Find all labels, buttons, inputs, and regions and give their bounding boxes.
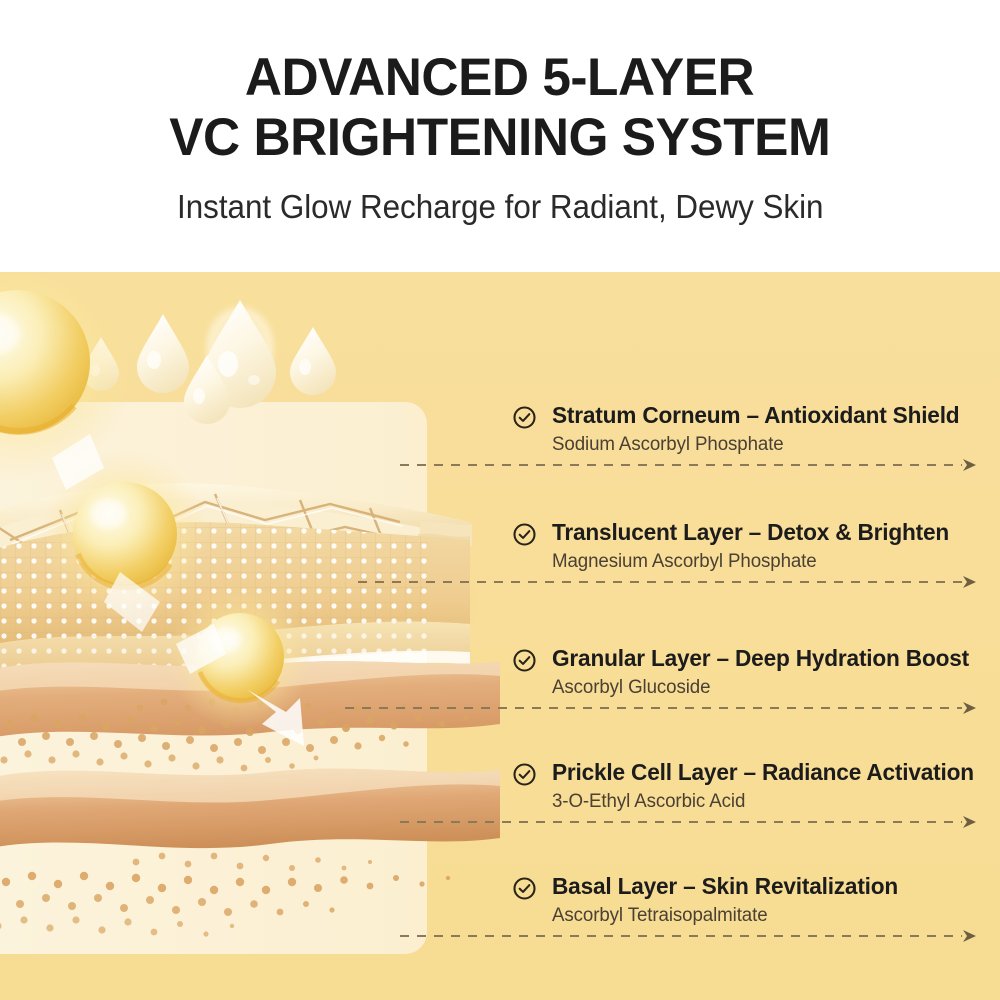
callout-leader-line: [400, 821, 962, 823]
callout-leader-line: [358, 581, 962, 583]
layer-callout-list: Stratum Corneum – Antioxidant ShieldSodi…: [0, 272, 1000, 1000]
page-title-line-1: ADVANCED 5-LAYER: [245, 48, 754, 108]
check-circle-icon: [512, 405, 537, 430]
callout-title: Stratum Corneum – Antioxidant Shield: [552, 402, 959, 429]
callout-subtitle: Ascorbyl Tetraisopalmitate: [552, 904, 898, 928]
callout-subtitle: Sodium Ascorbyl Phosphate: [552, 433, 959, 457]
leader-arrowhead-icon: [962, 574, 978, 590]
page-subtitle: Instant Glow Recharge for Radiant, Dewy …: [177, 188, 823, 226]
layer-callout-2[interactable]: Translucent Layer – Detox & BrightenMagn…: [0, 519, 1000, 619]
leader-arrowhead-icon: [962, 700, 978, 716]
callout-title: Prickle Cell Layer – Radiance Activation: [552, 759, 974, 786]
callout-text-group: Translucent Layer – Detox & BrightenMagn…: [552, 519, 955, 574]
layer-callout-3[interactable]: Granular Layer – Deep Hydration BoostAsc…: [0, 645, 1000, 745]
callout-text-group: Prickle Cell Layer – Radiance Activation…: [552, 759, 980, 814]
callout-text-group: Basal Layer – Skin RevitalizationAscorby…: [552, 873, 903, 928]
callout-leader-line: [400, 935, 962, 937]
leader-arrowhead-icon: [962, 928, 978, 944]
callout-text-group: Stratum Corneum – Antioxidant ShieldSodi…: [552, 402, 966, 457]
callout-leader-line: [400, 464, 962, 466]
check-circle-icon: [512, 648, 537, 673]
callout-leader-line: [345, 707, 962, 709]
check-circle-icon: [512, 876, 537, 901]
layer-callout-1[interactable]: Stratum Corneum – Antioxidant ShieldSodi…: [0, 402, 1000, 502]
callout-subtitle: 3-O-Ethyl Ascorbic Acid: [552, 790, 974, 814]
page-title-line-2: VC BRIGHTENING SYSTEM: [169, 108, 830, 168]
layer-callout-4[interactable]: Prickle Cell Layer – Radiance Activation…: [0, 759, 1000, 859]
check-circle-icon: [512, 522, 537, 547]
callout-subtitle: Ascorbyl Glucoside: [552, 676, 969, 700]
callout-subtitle: Magnesium Ascorbyl Phosphate: [552, 550, 949, 574]
layer-callout-5[interactable]: Basal Layer – Skin RevitalizationAscorby…: [0, 873, 1000, 973]
callout-title: Translucent Layer – Detox & Brighten: [552, 519, 949, 546]
leader-arrowhead-icon: [962, 814, 978, 830]
header-banner: ADVANCED 5-LAYER VC BRIGHTENING SYSTEM I…: [0, 0, 1000, 272]
leader-arrowhead-icon: [962, 457, 978, 473]
callout-title: Basal Layer – Skin Revitalization: [552, 873, 898, 900]
callout-title: Granular Layer – Deep Hydration Boost: [552, 645, 969, 672]
infographic-canvas: ADVANCED 5-LAYER VC BRIGHTENING SYSTEM I…: [0, 0, 1000, 1000]
check-circle-icon: [512, 762, 537, 787]
callout-text-group: Granular Layer – Deep Hydration BoostAsc…: [552, 645, 975, 700]
